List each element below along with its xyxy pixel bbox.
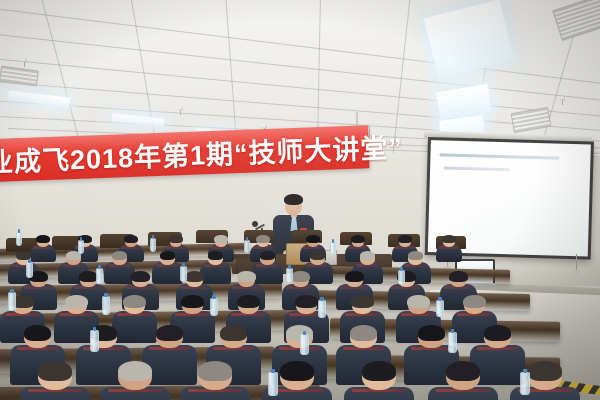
water-bottle-19 <box>268 372 278 396</box>
attendee-r6-c6 <box>428 362 498 400</box>
attendee-hair <box>310 251 326 260</box>
attendee-hair <box>407 295 430 308</box>
slide-text-line-2 <box>444 166 510 171</box>
sprinkler-1 <box>22 58 27 63</box>
attendee-hair <box>156 325 183 341</box>
attendee-hair <box>214 235 227 243</box>
attendee-hair <box>181 295 204 308</box>
water-bottle-4 <box>244 240 250 253</box>
attendee-hair <box>360 251 376 260</box>
attendee-hair <box>185 271 204 282</box>
water-bottle-12 <box>102 296 110 315</box>
attendee-hair <box>291 271 310 282</box>
attendee-hair <box>351 235 364 243</box>
attendee-hair <box>408 251 424 260</box>
attendee-hair <box>280 361 315 381</box>
water-bottle-13 <box>210 298 218 316</box>
screen-cord-right <box>576 254 577 270</box>
water-bottle-16 <box>90 330 99 352</box>
attendee-hair <box>260 251 276 260</box>
attendee-hair <box>256 235 269 243</box>
attendee-hair <box>442 235 455 243</box>
water-bottle-15 <box>436 300 444 317</box>
attendee-hair <box>198 361 233 381</box>
attendee-hair <box>208 251 224 260</box>
attendee-r6-c1 <box>20 362 90 400</box>
attendee-hair <box>220 325 247 341</box>
water-bottle-2 <box>78 240 84 254</box>
attendee-hair <box>237 271 256 282</box>
attendee-hair <box>36 235 49 243</box>
attendee-hair <box>160 251 176 260</box>
attendee-hair <box>112 251 128 260</box>
attendee-hair <box>351 295 374 308</box>
attendee-hair <box>131 271 150 282</box>
attendee-hair <box>118 361 153 381</box>
attendee-hair <box>24 325 51 341</box>
attendee-hair <box>362 361 397 381</box>
attendee-r6-c5 <box>344 362 414 400</box>
attendee-r1-c10 <box>436 236 462 265</box>
attendee-hair <box>38 361 73 381</box>
sprinkler-4 <box>560 96 565 101</box>
water-bottle-10 <box>398 270 405 285</box>
attendee-hair <box>398 235 411 243</box>
attendee-hair <box>463 295 486 308</box>
water-bottle-1 <box>16 232 22 246</box>
water-bottle-3 <box>150 238 156 252</box>
attendee-hair <box>295 295 318 308</box>
sprinkler-2 <box>178 106 183 111</box>
water-bottle-20 <box>520 372 530 395</box>
water-bottle-11 <box>8 292 16 311</box>
water-bottle-8 <box>180 266 187 282</box>
slide-text-line-1 <box>439 153 559 159</box>
water-bottle-5 <box>330 242 336 255</box>
attendee-hair <box>449 271 468 282</box>
conference-hall-photo: 业成飞2018年第1期“技师大讲堂” <box>0 0 600 400</box>
water-bottle-14 <box>318 300 326 318</box>
attendee-r6-c2 <box>100 362 170 400</box>
water-bottle-9 <box>286 268 293 283</box>
attendee-hair <box>350 325 377 341</box>
attendee-hair <box>123 295 146 308</box>
attendee-hair <box>418 325 445 341</box>
attendee-hair <box>124 235 137 243</box>
attendee-hair <box>306 235 319 243</box>
water-bottle-17 <box>300 334 309 355</box>
water-bottle-6 <box>26 262 33 278</box>
water-bottle-18 <box>448 332 457 353</box>
attendee-hair <box>169 235 182 243</box>
attendee-hair <box>345 271 364 282</box>
attendee-hair <box>484 325 511 341</box>
screen-weight-right <box>573 270 580 274</box>
attendee-hair <box>446 361 481 381</box>
attendee-hair <box>65 295 88 308</box>
attendee-hair <box>528 361 563 381</box>
attendee-hair <box>237 295 260 308</box>
attendee-r6-c3 <box>180 362 250 400</box>
presenter-hair <box>284 194 303 205</box>
water-bottle-7 <box>96 268 103 284</box>
